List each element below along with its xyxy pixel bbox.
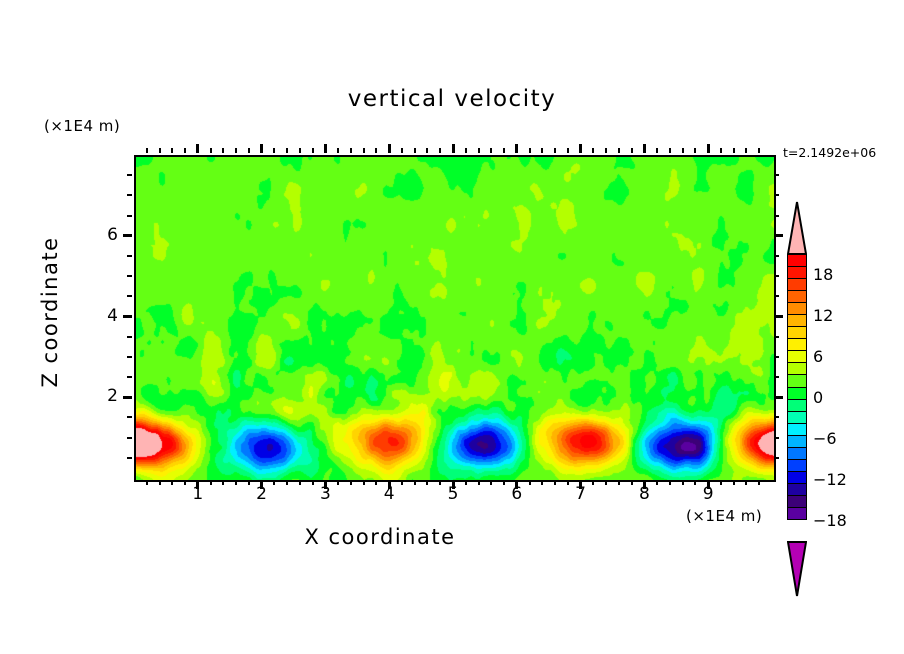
- x-tick-minor: [363, 480, 365, 485]
- x-tick-label: 2: [242, 484, 282, 504]
- colorbar-tick-label: 18: [813, 265, 833, 284]
- y-tick-minor: [774, 194, 779, 196]
- x-tick-label: 5: [433, 484, 473, 504]
- x-tick-label: 3: [305, 484, 345, 504]
- y-tick-minor: [127, 336, 132, 338]
- x-tick-minor: [541, 148, 543, 153]
- x-tick-minor: [350, 480, 352, 485]
- x-tick-minor: [669, 148, 671, 153]
- y-tick-minor: [127, 437, 132, 439]
- x-tick-minor: [656, 148, 658, 153]
- x-tick-minor: [184, 148, 186, 153]
- y-tick-minor: [774, 295, 779, 297]
- y-tick-minor: [774, 215, 779, 217]
- x-tick-major: [196, 144, 199, 153]
- x-tick-minor: [235, 480, 237, 485]
- y-tick-minor: [774, 457, 779, 459]
- x-tick-major: [707, 144, 710, 153]
- y-tick-minor: [127, 457, 132, 459]
- colorbar-tick-label: 0: [813, 388, 823, 407]
- x-tick-major: [579, 144, 582, 153]
- colorbar-under-arrow: [787, 540, 807, 598]
- y-tick-minor: [774, 416, 779, 418]
- y-axis-title: Z coordinate: [38, 202, 62, 422]
- colorbar: 181260−6−12−18: [780, 200, 900, 520]
- y-tick-major: [123, 234, 132, 237]
- x-tick-minor: [401, 148, 403, 153]
- x-tick-minor: [618, 480, 620, 485]
- time-annotation: t=2.1492e+06: [783, 145, 876, 160]
- x-tick-minor: [414, 148, 416, 153]
- x-tick-major: [515, 144, 518, 153]
- x-tick-minor: [235, 148, 237, 153]
- y-tick-minor: [127, 295, 132, 297]
- x-tick-label: 9: [688, 484, 728, 504]
- x-tick-minor: [426, 148, 428, 153]
- x-tick-minor: [720, 148, 722, 153]
- x-tick-minor: [465, 148, 467, 153]
- colorbar-tick-label: −6: [813, 429, 837, 448]
- x-tick-minor: [426, 480, 428, 485]
- y-tick-minor: [127, 194, 132, 196]
- contour-plot-area: [134, 155, 776, 482]
- x-tick-label: 7: [561, 484, 601, 504]
- x-tick-minor: [159, 480, 161, 485]
- x-tick-minor: [478, 480, 480, 485]
- y-tick-minor: [774, 255, 779, 257]
- x-tick-minor: [554, 480, 556, 485]
- y-tick-minor: [127, 275, 132, 277]
- x-tick-label: 4: [369, 484, 409, 504]
- x-tick-minor: [286, 480, 288, 485]
- x-tick-minor: [605, 148, 607, 153]
- x-tick-label: 1: [178, 484, 218, 504]
- colorbar-band: [787, 507, 807, 520]
- colorbar-bands: [787, 254, 807, 519]
- y-tick-minor: [774, 437, 779, 439]
- y-tick-minor: [127, 416, 132, 418]
- x-tick-minor: [694, 148, 696, 153]
- y-tick-minor: [127, 356, 132, 358]
- x-tick-minor: [669, 480, 671, 485]
- x-tick-minor: [733, 148, 735, 153]
- x-tick-minor: [605, 480, 607, 485]
- x-tick-minor: [146, 148, 148, 153]
- x-tick-minor: [592, 148, 594, 153]
- x-tick-major: [452, 144, 455, 153]
- x-tick-minor: [554, 148, 556, 153]
- colorbar-tick-label: 6: [813, 347, 823, 366]
- y-tick-minor: [127, 376, 132, 378]
- x-tick-minor: [567, 148, 569, 153]
- x-tick-minor: [171, 148, 173, 153]
- x-tick-minor: [171, 480, 173, 485]
- x-tick-major: [260, 144, 263, 153]
- x-tick-minor: [541, 480, 543, 485]
- y-tick-minor: [127, 174, 132, 176]
- x-tick-minor: [758, 148, 760, 153]
- x-tick-minor: [682, 148, 684, 153]
- x-tick-label: 6: [497, 484, 537, 504]
- x-tick-minor: [414, 480, 416, 485]
- x-tick-minor: [375, 148, 377, 153]
- x-tick-minor: [312, 148, 314, 153]
- x-tick-minor: [758, 480, 760, 485]
- chart-title: vertical velocity: [0, 86, 904, 112]
- x-tick-minor: [631, 148, 633, 153]
- colorbar-over-arrow: [787, 200, 807, 256]
- y-tick-minor: [774, 356, 779, 358]
- x-axis-title: X coordinate: [0, 525, 760, 549]
- x-tick-minor: [248, 148, 250, 153]
- y-tick-label: 4: [78, 306, 118, 326]
- colorbar-tick-label: −12: [813, 470, 847, 489]
- x-axis-unit-label: (×1E4 m): [686, 507, 762, 525]
- x-tick-minor: [529, 148, 531, 153]
- x-tick-minor: [745, 480, 747, 485]
- z-axis-unit-label: (×1E4 m): [44, 117, 120, 135]
- x-tick-minor: [490, 480, 492, 485]
- x-tick-minor: [733, 480, 735, 485]
- x-tick-major: [388, 144, 391, 153]
- x-tick-minor: [222, 148, 224, 153]
- colorbar-tick-label: 12: [813, 306, 833, 325]
- x-tick-minor: [363, 148, 365, 153]
- x-tick-label: 8: [624, 484, 664, 504]
- y-tick-label: 2: [78, 386, 118, 406]
- x-tick-minor: [478, 148, 480, 153]
- y-tick-minor: [774, 275, 779, 277]
- x-tick-minor: [146, 480, 148, 485]
- y-tick-minor: [774, 336, 779, 338]
- vertical-velocity-field: [136, 157, 774, 480]
- x-tick-minor: [350, 148, 352, 153]
- x-tick-minor: [682, 480, 684, 485]
- y-tick-major: [123, 396, 132, 399]
- y-tick-major: [123, 315, 132, 318]
- x-tick-minor: [299, 480, 301, 485]
- x-tick-minor: [273, 148, 275, 153]
- x-tick-minor: [210, 148, 212, 153]
- y-tick-minor: [774, 174, 779, 176]
- x-tick-minor: [745, 148, 747, 153]
- colorbar-tick-label: −18: [813, 511, 847, 530]
- x-tick-minor: [618, 148, 620, 153]
- x-tick-minor: [222, 480, 224, 485]
- y-tick-minor: [774, 376, 779, 378]
- y-tick-minor: [127, 255, 132, 257]
- x-tick-minor: [439, 148, 441, 153]
- x-tick-minor: [286, 148, 288, 153]
- x-tick-minor: [159, 148, 161, 153]
- y-tick-minor: [127, 215, 132, 217]
- x-tick-major: [324, 144, 327, 153]
- y-tick-label: 6: [78, 225, 118, 245]
- x-tick-minor: [299, 148, 301, 153]
- x-tick-minor: [490, 148, 492, 153]
- x-tick-minor: [337, 148, 339, 153]
- x-tick-minor: [503, 148, 505, 153]
- x-tick-major: [643, 144, 646, 153]
